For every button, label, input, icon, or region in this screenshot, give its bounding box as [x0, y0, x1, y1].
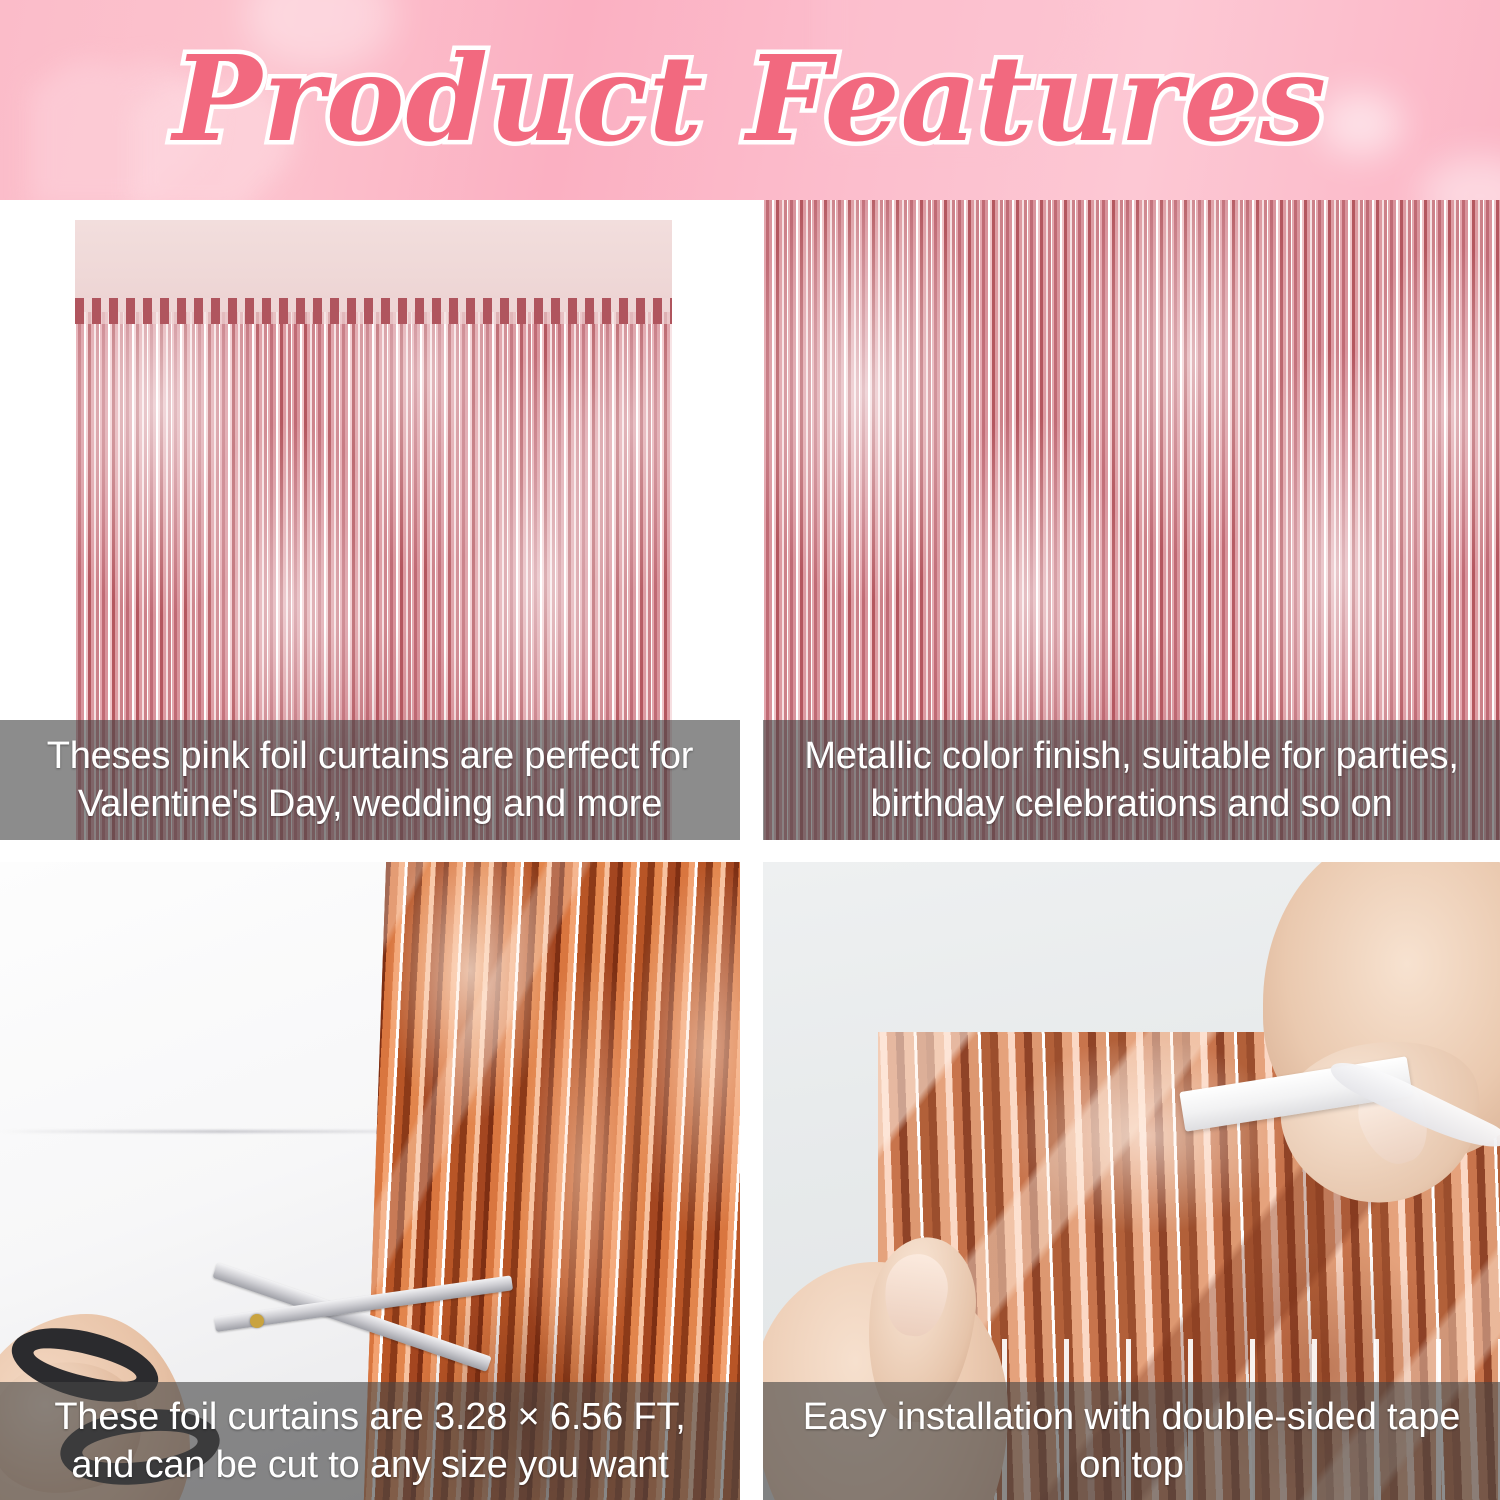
page-title: Product Features — [0, 34, 1500, 164]
caption-bottom-left: These foil curtains are 3.28 × 6.56 FT, … — [0, 1382, 740, 1500]
scissors-pivot-screw — [250, 1314, 264, 1328]
caption-top-right: Metallic color finish, suitable for part… — [763, 720, 1500, 840]
caption-bottom-right: Easy installation with double-sided tape… — [763, 1382, 1500, 1500]
caption-top-left: Theses pink foil curtains are perfect fo… — [0, 720, 740, 840]
header-banner: Product Features — [0, 0, 1500, 200]
product-features-infographic: Product Features — [0, 0, 1500, 1500]
curtain-fringe-teeth — [75, 298, 672, 324]
